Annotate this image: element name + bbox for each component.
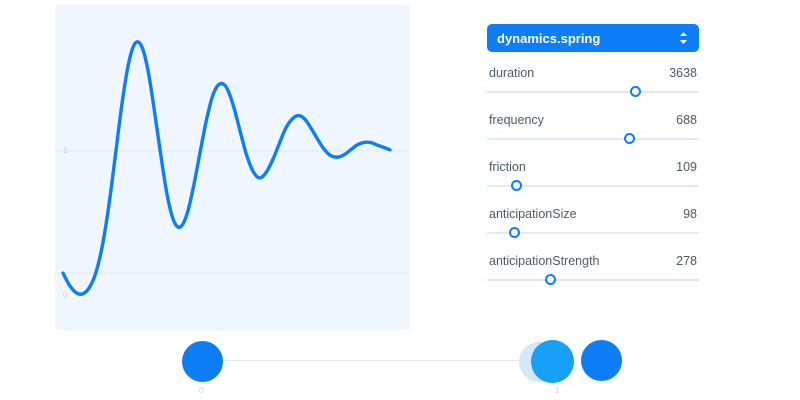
slider-handle[interactable] [509, 227, 520, 238]
slider-track-wrap[interactable] [487, 226, 699, 240]
slider-header: frequency688 [487, 113, 699, 132]
slider-label: frequency [489, 113, 544, 127]
slider-header: duration3638 [487, 66, 699, 85]
slider-track-wrap[interactable] [487, 132, 699, 146]
curve-preview-panel: 1 0 [55, 5, 410, 330]
spring-animation-editor: 1 0 dynamics.spring duration3638frequenc… [0, 0, 800, 400]
demo-dot-animating[interactable] [531, 340, 574, 383]
slider-handle[interactable] [545, 274, 556, 285]
preset-dropdown-label: dynamics.spring [497, 31, 677, 46]
slider-track[interactable] [487, 279, 699, 281]
slider-value: 278 [676, 254, 697, 268]
slider-list: duration3638frequency688friction109antic… [487, 66, 699, 287]
slider-row: frequency688 [487, 113, 699, 146]
slider-track-wrap[interactable] [487, 179, 699, 193]
slider-handle[interactable] [624, 133, 635, 144]
slider-track-wrap[interactable] [487, 273, 699, 287]
demo-tick-end: 1 [555, 386, 559, 395]
slider-row: duration3638 [487, 66, 699, 99]
slider-row: anticipationSize98 [487, 207, 699, 240]
slider-row: friction109 [487, 160, 699, 193]
slider-label: anticipationStrength [489, 254, 600, 268]
slider-track[interactable] [487, 91, 699, 93]
spring-curve-chart [55, 5, 410, 330]
slider-handle[interactable] [511, 180, 522, 191]
slider-value: 109 [676, 160, 697, 174]
animation-demo-area [0, 334, 800, 400]
demo-tick-start: 0 [199, 386, 203, 395]
slider-header: friction109 [487, 160, 699, 179]
parameters-panel: dynamics.spring duration3638frequency688… [487, 24, 699, 287]
slider-row: anticipationStrength278 [487, 254, 699, 287]
spring-curve-line [63, 42, 390, 294]
demo-dot-start[interactable] [182, 341, 223, 382]
slider-label: anticipationSize [489, 207, 577, 221]
slider-track[interactable] [487, 138, 699, 140]
slider-header: anticipationStrength278 [487, 254, 699, 273]
slider-value: 3638 [669, 66, 697, 80]
slider-header: anticipationSize98 [487, 207, 699, 226]
demo-track[interactable] [210, 360, 550, 361]
slider-value: 98 [683, 207, 697, 221]
y-axis-tick-one: 1 [63, 146, 68, 155]
slider-label: duration [489, 66, 534, 80]
slider-label: friction [489, 160, 526, 174]
slider-value: 688 [676, 113, 697, 127]
y-axis-tick-zero: 0 [63, 291, 68, 300]
demo-dot-end[interactable] [581, 340, 622, 381]
slider-track-wrap[interactable] [487, 85, 699, 99]
slider-handle[interactable] [630, 86, 641, 97]
chevron-up-down-icon [677, 30, 689, 46]
preset-dropdown[interactable]: dynamics.spring [487, 24, 699, 52]
